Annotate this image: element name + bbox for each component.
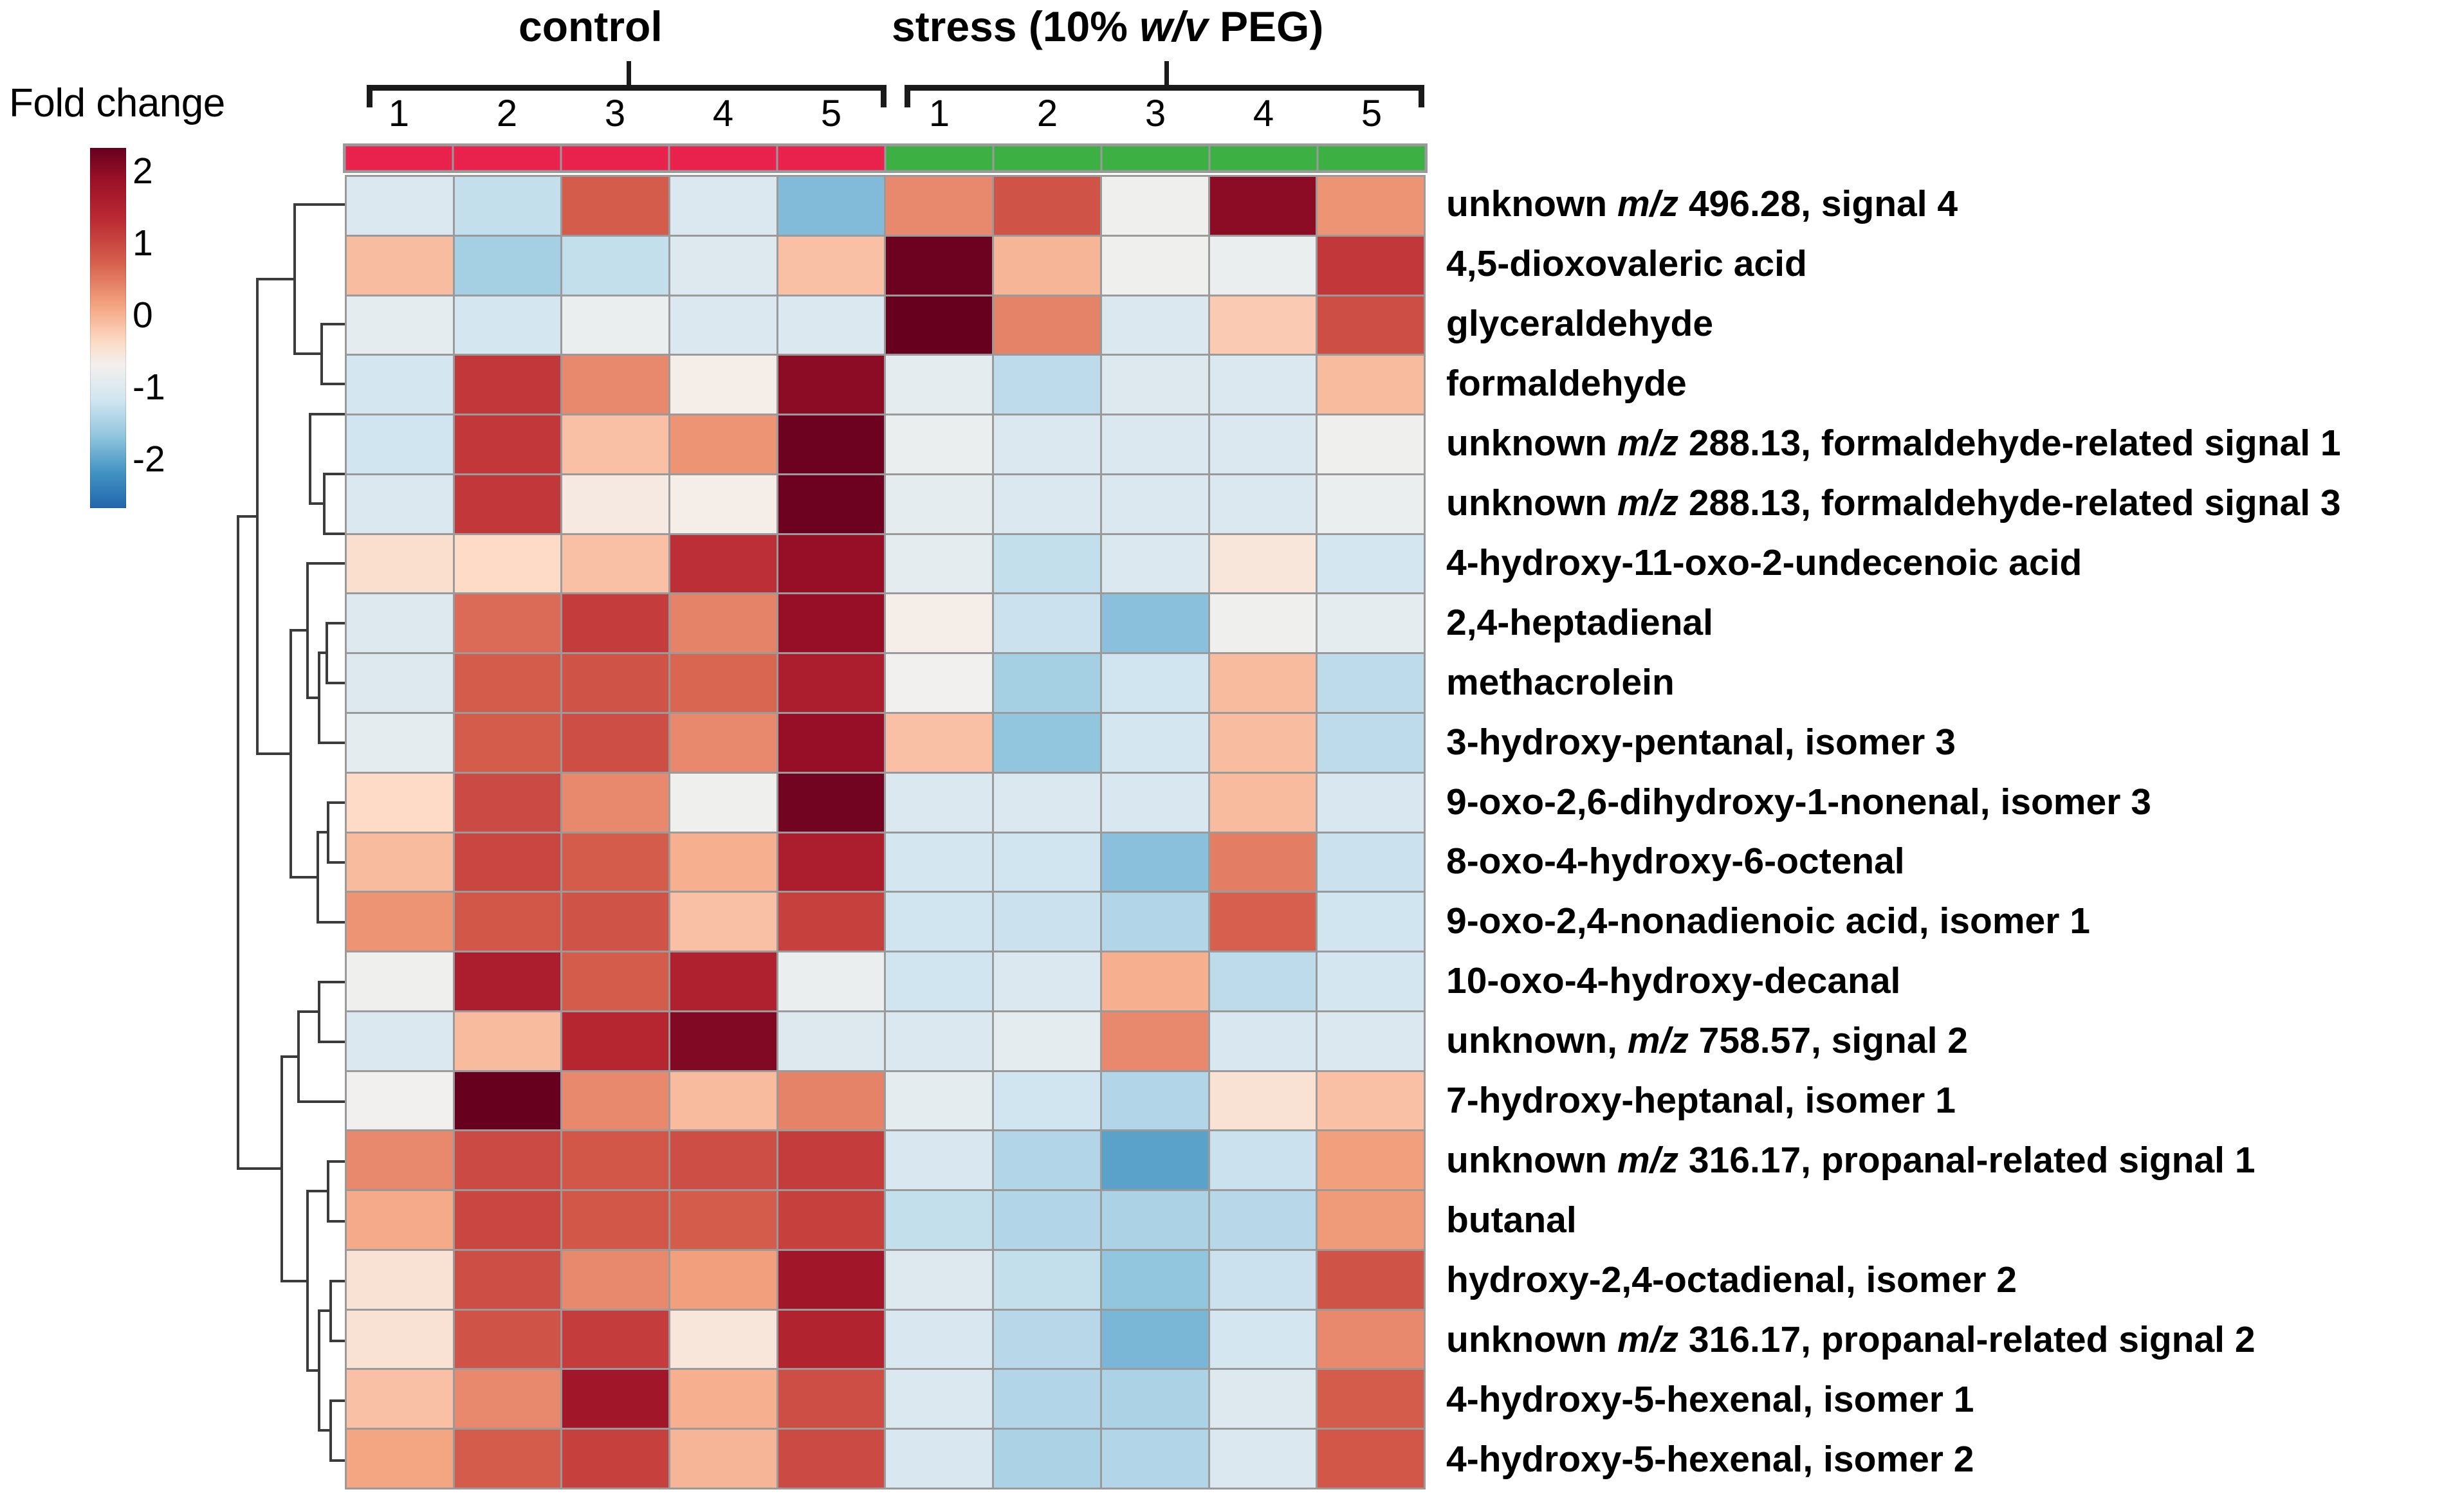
heatmap-cell (1318, 1311, 1424, 1369)
heatmap-cell (670, 774, 776, 832)
heatmap-cell (1102, 1311, 1208, 1369)
heatmap-cell (886, 177, 992, 235)
heatmap-cell (778, 535, 885, 593)
heatmap-cell (562, 1072, 668, 1130)
heatmap-cell (1318, 774, 1424, 832)
group-label-control: control (519, 5, 663, 48)
heatmap-cell (670, 1370, 776, 1428)
heatmap-cell (994, 1251, 1100, 1309)
heatmap-cell (994, 177, 1100, 235)
heatmap-cell (994, 237, 1100, 295)
colorbar: 2 1 0 -1 -2 (90, 148, 126, 508)
heatmap-cell (994, 475, 1100, 533)
row-label-mz: m/z (1617, 482, 1678, 524)
heatmap-cell (778, 1191, 885, 1249)
row-label-column: unknown m/z 496.28, signal 44,5-dioxoval… (1446, 175, 2437, 1489)
heatmap-cell (886, 774, 992, 832)
heatmap-cell (670, 415, 776, 473)
heatmap-cell (562, 1370, 668, 1428)
row-label-text: unknown (1446, 482, 1617, 524)
heatmap-cell (455, 654, 561, 712)
heatmap-cell (1102, 1370, 1208, 1428)
heatmap-cell (886, 714, 992, 772)
heatmap-cell (1318, 1370, 1424, 1428)
heatmap-cell (1210, 654, 1316, 712)
heatmap-cell (562, 535, 668, 593)
heatmap-cell (347, 415, 453, 473)
row-label: unknown m/z 316.17, propanal-related sig… (1446, 1322, 2255, 1358)
heatmap-cell (562, 654, 668, 712)
heatmap-cell (1102, 714, 1208, 772)
heatmap-cell (455, 1072, 561, 1130)
heatmap-cell (1318, 1251, 1424, 1309)
group-bracket-stem-stress (1164, 61, 1169, 91)
heatmap-cell (455, 177, 561, 235)
row-label: hydroxy-2,4-octadienal, isomer 2 (1446, 1262, 2017, 1298)
heatmap-cell (670, 594, 776, 652)
row-label-text: 758.57, signal 2 (1689, 1020, 1968, 1061)
heatmap-cell (1318, 893, 1424, 951)
column-number-control-5: 5 (777, 95, 885, 132)
heatmap-cell (455, 1311, 561, 1369)
heatmap-cell (562, 1012, 668, 1070)
heatmap-cell (886, 1191, 992, 1249)
heatmap-cell (1210, 356, 1316, 414)
heatmap-cell (1102, 535, 1208, 593)
heatmap-cell (670, 1311, 776, 1369)
group-annotation-cell-stress (1209, 145, 1318, 171)
row-label: butanal (1446, 1202, 1577, 1239)
row-label: 2,4-heptadienal (1446, 605, 1713, 641)
row-label: unknown m/z 496.28, signal 4 (1446, 186, 1958, 223)
heatmap-cell (778, 893, 885, 951)
row-label: unknown m/z 316.17, propanal-related sig… (1446, 1142, 2255, 1179)
heatmap-cell (670, 475, 776, 533)
heatmap-cell (1102, 177, 1208, 235)
heatmap-cell (1210, 177, 1316, 235)
row-label: 8-oxo-4-hydroxy-6-octenal (1446, 843, 1905, 880)
row-label: 4-hydroxy-5-hexenal, isomer 1 (1446, 1381, 1974, 1418)
heatmap-cell (1318, 356, 1424, 414)
heatmap-cell (1210, 893, 1316, 951)
heatmap-cell (778, 177, 885, 235)
heatmap-cell (1318, 833, 1424, 891)
heatmap-cell (347, 356, 453, 414)
heatmap-cell (886, 952, 992, 1010)
heatmap-cell (886, 654, 992, 712)
heatmap-cell (670, 1072, 776, 1130)
heatmap-cell (347, 1131, 453, 1189)
group-annotation-cell-control (669, 145, 777, 171)
row-label: 9-oxo-2,4-nonadienoic acid, isomer 1 (1446, 903, 2090, 940)
row-label: 4-hydroxy-11-oxo-2-undecenoic acid (1446, 545, 2082, 581)
colorbar-tick-2: 2 (133, 153, 153, 190)
heatmap-cell (670, 1012, 776, 1070)
heatmap-cell (455, 952, 561, 1010)
heatmap-cell (347, 1430, 453, 1488)
row-label-mz: m/z (1628, 1020, 1689, 1061)
heatmap-cell (1102, 475, 1208, 533)
heatmap-cell (1210, 535, 1316, 593)
heatmap-cell (1318, 237, 1424, 295)
heatmap-cell (886, 1430, 992, 1488)
group-annotation-cell-stress (1318, 145, 1426, 171)
heatmap-cell (347, 535, 453, 593)
heatmap-cell (347, 1012, 453, 1070)
group-label-stress: stress (10% w/v PEG) (892, 5, 1323, 48)
heatmap-cell (1102, 774, 1208, 832)
row-label-text: unknown (1446, 1319, 1617, 1360)
heatmap-cell (1210, 296, 1316, 354)
heatmap-cell (886, 535, 992, 593)
heatmap-cell (562, 1430, 668, 1488)
heatmap-cell (994, 1191, 1100, 1249)
column-number-control-2: 2 (453, 95, 561, 132)
heatmap-cell (1210, 952, 1316, 1010)
colorbar-title: Fold change (9, 84, 225, 123)
heatmap-cell (670, 893, 776, 951)
heatmap-cell (347, 1251, 453, 1309)
heatmap-cell (886, 296, 992, 354)
heatmap-cell (1102, 1251, 1208, 1309)
row-label-text: 288.13, formaldehyde-related signal 1 (1678, 423, 2341, 464)
heatmap-cell (994, 952, 1100, 1010)
group-bracket-stem-control (627, 61, 631, 91)
heatmap-cell (994, 833, 1100, 891)
column-number-stress-2: 2 (993, 95, 1101, 132)
row-label: formaldehyde (1446, 365, 1687, 402)
heatmap-cell (994, 774, 1100, 832)
heatmap-cell (1102, 1131, 1208, 1189)
heatmap-cell (670, 654, 776, 712)
group-annotation-cell-control (777, 145, 885, 171)
heatmap-cell (1318, 535, 1424, 593)
heatmap-cell (1210, 1311, 1316, 1369)
heatmap-cell (1102, 1072, 1208, 1130)
heatmap-cell (670, 296, 776, 354)
heatmap-cell (455, 1370, 561, 1428)
row-label-text: 496.28, signal 4 (1678, 183, 1958, 224)
row-label-text: 316.17, propanal-related signal 1 (1678, 1140, 2255, 1181)
heatmap-cell (1318, 594, 1424, 652)
heatmap-cell (455, 1012, 561, 1070)
heatmap-cell (347, 833, 453, 891)
heatmap-cell (1318, 1072, 1424, 1130)
heatmap-cell (347, 952, 453, 1010)
heatmap-cell (455, 1251, 561, 1309)
heatmap-cell (778, 237, 885, 295)
heatmap-cell (994, 296, 1100, 354)
heatmap-cell (1102, 654, 1208, 712)
heatmap-cell (994, 893, 1100, 951)
heatmap-cell (347, 475, 453, 533)
heatmap-cell (455, 594, 561, 652)
heatmap-cell (886, 475, 992, 533)
heatmap-cell (455, 1430, 561, 1488)
column-number-control-3: 3 (561, 95, 669, 132)
row-label: unknown m/z 288.13, formaldehyde-related… (1446, 425, 2341, 462)
heatmap-cell (886, 594, 992, 652)
heatmap-cell (1210, 237, 1316, 295)
heatmap-cell (455, 475, 561, 533)
heatmap-cell (778, 356, 885, 414)
heatmap-cell (670, 1191, 776, 1249)
heatmap-cell (1318, 714, 1424, 772)
heatmap-cell (670, 535, 776, 593)
row-label: 4,5-dioxovaleric acid (1446, 246, 1807, 282)
heatmap-cell (886, 833, 992, 891)
heatmap-cell (1210, 1131, 1316, 1189)
heatmap-cell (994, 654, 1100, 712)
heatmap-cell (1210, 415, 1316, 473)
heatmap-cell (562, 1251, 668, 1309)
heatmap-cell (562, 952, 668, 1010)
heatmap-cell (1210, 1370, 1316, 1428)
heatmap-cell (455, 1131, 561, 1189)
row-label: 9-oxo-2,6-dihydroxy-1-nonenal, isomer 3 (1446, 784, 2151, 821)
heatmap-cell (886, 893, 992, 951)
heatmap-cell (670, 356, 776, 414)
heatmap-cell (347, 296, 453, 354)
heatmap-cell (455, 1191, 561, 1249)
heatmap-cell (562, 714, 668, 772)
heatmap-cell (994, 1072, 1100, 1130)
heatmap-cell (347, 774, 453, 832)
heatmap-cell (562, 833, 668, 891)
row-label: glyceraldehyde (1446, 305, 1713, 342)
heatmap-cell (1210, 833, 1316, 891)
column-number-control-1: 1 (345, 95, 453, 132)
group-annotation-bar (345, 145, 1426, 171)
heatmap-cell (455, 893, 561, 951)
heatmap-cell (1102, 1012, 1208, 1070)
heatmap-cell (886, 237, 992, 295)
heatmap-cell (778, 1012, 885, 1070)
heatmap-cell (562, 356, 668, 414)
heatmap-grid (345, 175, 1426, 1489)
heatmap-cell (778, 475, 885, 533)
heatmap-cell (886, 1251, 992, 1309)
heatmap-cell (1318, 296, 1424, 354)
heatmap-cell (1102, 833, 1208, 891)
heatmap-cell (455, 833, 561, 891)
heatmap-cell (886, 1012, 992, 1070)
row-label-text: unknown (1446, 183, 1617, 224)
row-label: unknown m/z 288.13, formaldehyde-related… (1446, 485, 2341, 522)
group-label-stress-em: w/v (1139, 3, 1208, 50)
heatmap-cell (1210, 1072, 1316, 1130)
heatmap-cell (1102, 1191, 1208, 1249)
heatmap-cell (994, 1311, 1100, 1369)
row-label-text: 288.13, formaldehyde-related signal 3 (1678, 482, 2341, 524)
group-label-stress-post: PEG) (1208, 3, 1324, 50)
heatmap-cell (347, 1311, 453, 1369)
colorbar-tick-0: 0 (133, 297, 153, 334)
row-label: 3-hydroxy-pentanal, isomer 3 (1446, 724, 1956, 761)
group-annotation-cell-stress (993, 145, 1101, 171)
heatmap-cell (1210, 475, 1316, 533)
heatmap-cell (562, 475, 668, 533)
heatmap-cell (778, 1311, 885, 1369)
group-annotation-cell-control (453, 145, 561, 171)
heatmap-cell (347, 654, 453, 712)
heatmap-cell (347, 177, 453, 235)
heatmap-cell (778, 1251, 885, 1309)
heatmap-cell (778, 1430, 885, 1488)
heatmap-cell (1102, 893, 1208, 951)
heatmap-cell (994, 714, 1100, 772)
heatmap-cell (455, 296, 561, 354)
heatmap-cell (1102, 237, 1208, 295)
colorbar-tick-neg1: -1 (133, 369, 165, 406)
column-number-stress-5: 5 (1318, 95, 1426, 132)
heatmap-cell (347, 893, 453, 951)
colorbar-tick-neg2: -2 (133, 441, 165, 478)
heatmap-cell (347, 1370, 453, 1428)
heatmap-cell (1210, 714, 1316, 772)
heatmap-cell (1102, 594, 1208, 652)
heatmap-cell (562, 774, 668, 832)
row-label-mz: m/z (1617, 1140, 1678, 1181)
group-annotation-cell-stress (885, 145, 993, 171)
heatmap-cell (778, 1072, 885, 1130)
colorbar-tick-1: 1 (133, 225, 153, 262)
heatmap-cell (886, 1131, 992, 1189)
heatmap-cell (670, 952, 776, 1010)
row-label-text: 316.17, propanal-related signal 2 (1678, 1319, 2255, 1360)
heatmap-cell (562, 1311, 668, 1369)
heatmap-cell (778, 415, 885, 473)
group-annotation-cell-stress (1101, 145, 1209, 171)
row-label-text: unknown (1446, 423, 1617, 464)
heatmap-cell (1210, 1430, 1316, 1488)
heatmap-cell (1318, 654, 1424, 712)
heatmap-cell (1102, 296, 1208, 354)
heatmap-cell (670, 1430, 776, 1488)
heatmap-cell (562, 1131, 668, 1189)
row-label-text: unknown, (1446, 1020, 1628, 1061)
heatmap-cell (778, 714, 885, 772)
heatmap-cell (455, 415, 561, 473)
heatmap-cell (994, 1131, 1100, 1189)
row-label-mz: m/z (1617, 183, 1678, 224)
heatmap-cell (1210, 774, 1316, 832)
heatmap-cell (1318, 1131, 1424, 1189)
row-label: 7-hydroxy-heptanal, isomer 1 (1446, 1082, 1956, 1119)
heatmap-cell (1318, 1430, 1424, 1488)
row-label-text: unknown (1446, 1140, 1617, 1181)
colorbar-gradient (90, 148, 126, 508)
heatmap-cell (778, 1370, 885, 1428)
heatmap-cell (562, 893, 668, 951)
heatmap-cell (778, 952, 885, 1010)
heatmap-cell (455, 774, 561, 832)
heatmap-cell (778, 296, 885, 354)
heatmap-cell (778, 654, 885, 712)
heatmap-cell (778, 833, 885, 891)
heatmap-figure: Fold change 2 1 0 -1 -2 control stress (… (0, 0, 2453, 1512)
row-dendrogram (181, 175, 345, 1489)
heatmap-cell (1318, 177, 1424, 235)
heatmap-cell (1102, 356, 1208, 414)
heatmap-cell (455, 356, 561, 414)
row-label: methacrolein (1446, 664, 1675, 701)
heatmap-cell (1102, 415, 1208, 473)
heatmap-cell (347, 714, 453, 772)
heatmap-cell (1318, 1191, 1424, 1249)
heatmap-cell (994, 356, 1100, 414)
heatmap-cell (562, 177, 668, 235)
heatmap-cell (347, 237, 453, 295)
heatmap-cell (994, 594, 1100, 652)
heatmap-cell (1210, 1012, 1316, 1070)
heatmap-cell (562, 594, 668, 652)
heatmap-cell (886, 1311, 992, 1369)
heatmap-cell (1210, 1191, 1316, 1249)
heatmap-cell (886, 356, 992, 414)
heatmap-cell (1102, 1430, 1208, 1488)
column-number-stress-4: 4 (1209, 95, 1318, 132)
row-label-mz: m/z (1617, 423, 1678, 464)
row-label-mz: m/z (1617, 1319, 1678, 1360)
heatmap-cell (1210, 594, 1316, 652)
heatmap-cell (778, 1131, 885, 1189)
row-label: 10-oxo-4-hydroxy-decanal (1446, 963, 1900, 999)
heatmap-cell (778, 774, 885, 832)
heatmap-cell (455, 237, 561, 295)
heatmap-cell (994, 415, 1100, 473)
heatmap-cell (994, 1370, 1100, 1428)
heatmap-cell (994, 535, 1100, 593)
heatmap-cell (670, 237, 776, 295)
group-label-stress-pre: stress (10% (892, 3, 1139, 50)
heatmap-cell (1318, 475, 1424, 533)
column-number-control-4: 4 (669, 95, 777, 132)
heatmap-cell (562, 415, 668, 473)
group-annotation-cell-control (561, 145, 669, 171)
heatmap-cell (670, 1131, 776, 1189)
column-number-stress-3: 3 (1101, 95, 1209, 132)
heatmap-cell (886, 1072, 992, 1130)
heatmap-cell (1318, 1012, 1424, 1070)
heatmap-cell (994, 1430, 1100, 1488)
heatmap-cell (1210, 1251, 1316, 1309)
row-label: unknown, m/z 758.57, signal 2 (1446, 1023, 1968, 1059)
heatmap-cell (670, 833, 776, 891)
heatmap-cell (562, 237, 668, 295)
heatmap-cell (670, 1251, 776, 1309)
heatmap-cell (562, 1191, 668, 1249)
heatmap-cell (347, 594, 453, 652)
heatmap-cell (455, 535, 561, 593)
heatmap-cell (670, 714, 776, 772)
heatmap-cell (347, 1191, 453, 1249)
heatmap-cell (886, 415, 992, 473)
heatmap-cell (1318, 415, 1424, 473)
row-label: 4-hydroxy-5-hexenal, isomer 2 (1446, 1441, 1974, 1478)
heatmap-cell (670, 177, 776, 235)
group-annotation-cell-control (345, 145, 453, 171)
heatmap-cell (455, 714, 561, 772)
heatmap-cell (994, 1012, 1100, 1070)
heatmap-cell (347, 1072, 453, 1130)
heatmap-cell (1102, 952, 1208, 1010)
heatmap-cell (886, 1370, 992, 1428)
heatmap-cell (562, 296, 668, 354)
heatmap-cell (778, 594, 885, 652)
heatmap-cell (1318, 952, 1424, 1010)
column-number-stress-1: 1 (885, 95, 993, 132)
